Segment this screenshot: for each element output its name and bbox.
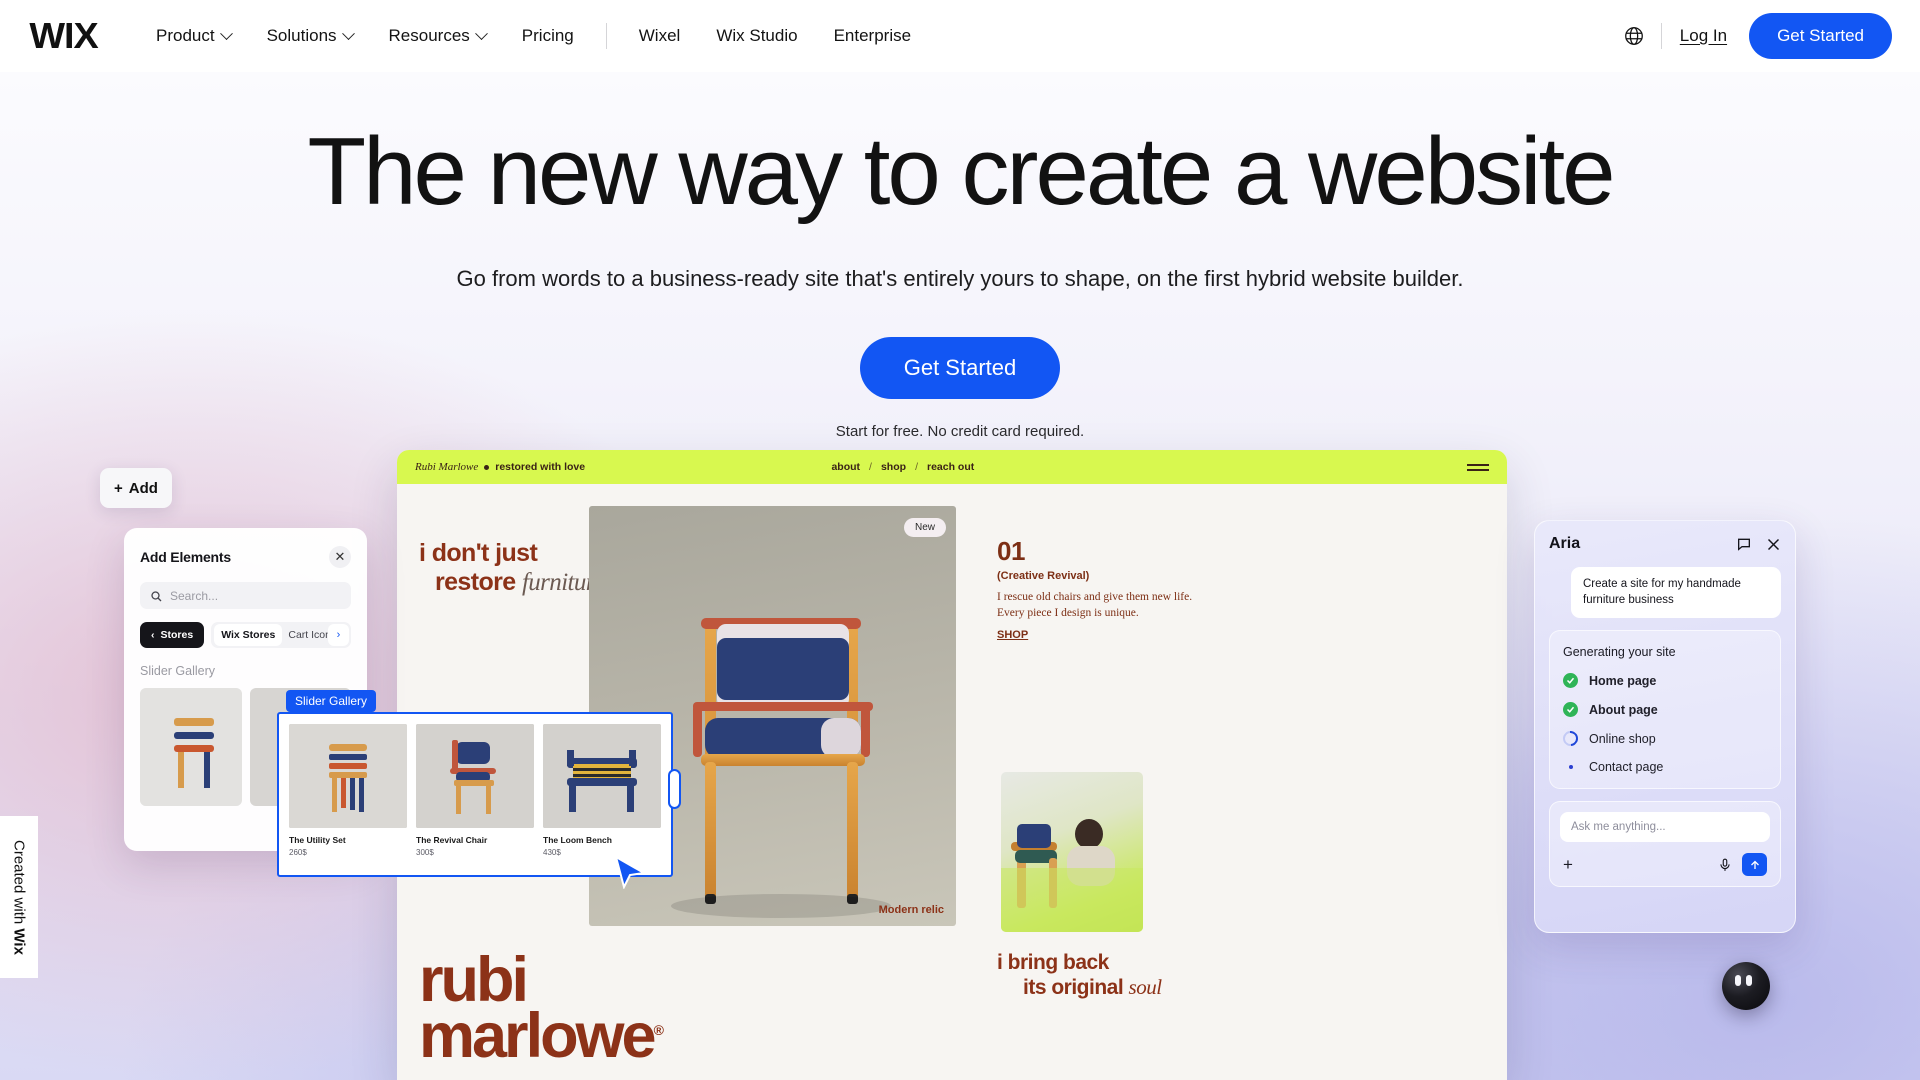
- created-with-wix-badge[interactable]: Created with Wix: [0, 816, 38, 978]
- preview-brand[interactable]: Rubi Marlowe restored with love: [415, 461, 585, 473]
- aria-assistant-panel: Aria Create a site for my handmade furni…: [1534, 520, 1796, 933]
- chevron-down-icon: [220, 27, 233, 40]
- add-button-label: Add: [129, 480, 158, 497]
- get-started-button-hero[interactable]: Get Started: [860, 337, 1061, 399]
- nav-divider: [606, 23, 607, 49]
- created-with-wix-label: Created with Wix: [11, 840, 28, 955]
- preview-headline: i don't just restore furniture: [419, 539, 605, 598]
- add-elements-section-title: Slider Gallery: [140, 664, 351, 678]
- slider-gallery-selection[interactable]: The Utility Set 260$ The Revival Chair 3…: [277, 712, 673, 877]
- preview-headline2-italic: soul: [1129, 975, 1162, 999]
- chevron-left-icon: ‹: [151, 629, 155, 641]
- bullet-icon: [1563, 765, 1578, 769]
- aria-step-label: Contact page: [1589, 760, 1663, 774]
- preview-section-paragraph: I rescue old chairs and give them new li…: [997, 590, 1212, 621]
- loom-bench-illustration: [543, 724, 661, 828]
- nav-item-label: Wixel: [639, 26, 681, 46]
- preview-new-badge: New: [904, 518, 946, 537]
- close-icon[interactable]: ✕: [329, 546, 351, 568]
- gallery-item-name: The Utility Set: [289, 835, 407, 845]
- gallery-item-name: The Revival Chair: [416, 835, 534, 845]
- preview-headline-line1: i don't just: [419, 539, 537, 567]
- preview-nav-divider: /: [869, 461, 872, 473]
- nav-item-enterprise[interactable]: Enterprise: [816, 18, 929, 54]
- search-input[interactable]: Search...: [140, 582, 351, 609]
- aria-step-label: About page: [1589, 703, 1658, 717]
- page-title: The new way to create a website: [0, 124, 1920, 220]
- nav-right-group: Log In Get Started: [1623, 13, 1892, 59]
- check-icon: [1563, 673, 1578, 688]
- aria-user-prompt: Create a site for my handmade furniture …: [1571, 567, 1781, 618]
- arrow-up-icon: [1749, 859, 1761, 871]
- top-navigation-bar: WIX Product Solutions Resources Pricing …: [0, 0, 1920, 72]
- hero-note: Start for free. No credit card required.: [0, 423, 1920, 440]
- preview-nav-about[interactable]: about: [831, 461, 860, 473]
- preview-right-column: 01 (Creative Revival) I rescue old chair…: [997, 536, 1212, 643]
- aria-title: Aria: [1549, 535, 1580, 553]
- aria-step-label: Online shop: [1589, 732, 1656, 746]
- preview-site-nav: Rubi Marlowe restored with love about / …: [397, 450, 1507, 484]
- aria-input-placeholder: Ask me anything...: [1571, 821, 1666, 833]
- preview-brand-dot-icon: [484, 465, 489, 470]
- chevron-down-icon: [342, 27, 355, 40]
- orb-highlight-left: [1735, 975, 1741, 986]
- preview-nav-reach-out[interactable]: reach out: [927, 461, 974, 473]
- aria-header-icons: [1736, 536, 1781, 552]
- selection-label: Slider Gallery: [286, 690, 376, 712]
- utility-set-illustration: [289, 724, 407, 828]
- back-chip-label: Stores: [161, 629, 194, 641]
- preview-nav-divider: /: [915, 461, 918, 473]
- aria-step-online-shop: Online shop: [1563, 731, 1767, 746]
- microphone-icon[interactable]: [1718, 858, 1732, 872]
- plus-icon[interactable]: +: [1563, 856, 1573, 873]
- preview-big-brand-name: rubi marlowe®: [419, 953, 664, 1064]
- aria-header: Aria: [1549, 535, 1781, 553]
- gallery-item-image: [416, 724, 534, 828]
- aria-step-home-page: Home page: [1563, 673, 1767, 688]
- nav-item-label: Enterprise: [834, 26, 911, 46]
- element-thumbnail[interactable]: [140, 688, 242, 806]
- gallery-item[interactable]: The Revival Chair 300$: [416, 724, 534, 865]
- preview-registered-mark: ®: [654, 1022, 664, 1038]
- close-icon[interactable]: [1766, 537, 1781, 552]
- nav-item-label: Resources: [389, 26, 470, 46]
- nav-item-label: Wix Studio: [716, 26, 797, 46]
- preview-nav-links: about / shop / reach out: [831, 461, 974, 473]
- chevron-down-icon: [475, 27, 488, 40]
- spinner-icon: [1560, 728, 1581, 749]
- aria-step-about-page: About page: [1563, 702, 1767, 717]
- main-menu: Product Solutions Resources Pricing Wixe…: [138, 18, 929, 54]
- nav-divider: [1661, 23, 1662, 49]
- nav-item-product[interactable]: Product: [138, 18, 249, 54]
- chip-scroller: Wix Stores Cart Icon P ›: [211, 622, 351, 648]
- gallery-item-image: [543, 724, 661, 828]
- preview-headline-line2: restore: [435, 568, 516, 596]
- hero-subheadline: Go from words to a business-ready site t…: [0, 266, 1920, 292]
- mouse-cursor: [614, 855, 648, 889]
- preview-headline2-line1: i bring back: [997, 951, 1109, 974]
- gallery-item-price: 260$: [289, 848, 407, 857]
- orb-highlight-right: [1746, 975, 1752, 986]
- category-chip-row: ‹ Stores Wix Stores Cart Icon P ›: [140, 622, 351, 648]
- search-placeholder: Search...: [170, 589, 218, 603]
- preview-brand-tagline: restored with love: [495, 461, 585, 473]
- preview-nav-shop[interactable]: shop: [881, 461, 906, 473]
- nav-item-solutions[interactable]: Solutions: [249, 18, 371, 54]
- assistant-orb[interactable]: [1722, 962, 1770, 1010]
- send-button[interactable]: [1742, 853, 1767, 876]
- search-icon: [150, 590, 162, 602]
- revival-chair-illustration: [416, 724, 534, 828]
- aria-step-contact-page: Contact page: [1563, 760, 1767, 774]
- gallery-item-price: 300$: [416, 848, 534, 857]
- chat-bubble-icon[interactable]: [1736, 536, 1752, 552]
- preview-section-number: 01: [997, 536, 1212, 567]
- add-button[interactable]: + Add: [100, 468, 172, 508]
- preview-headline-2: i bring back its original soul: [997, 950, 1162, 1000]
- nav-item-label: Solutions: [267, 26, 337, 46]
- nav-item-resources[interactable]: Resources: [371, 18, 504, 54]
- aria-generating-title: Generating your site: [1563, 645, 1767, 659]
- nav-item-wixel[interactable]: Wixel: [621, 18, 699, 54]
- gallery-item-image: [289, 724, 407, 828]
- login-link[interactable]: Log In: [1680, 26, 1727, 46]
- plus-icon: +: [114, 480, 123, 497]
- preview-bigname-line2: marlowe: [419, 1001, 654, 1071]
- chip-wix-stores[interactable]: Wix Stores: [214, 624, 282, 646]
- stool-stack-illustration: [140, 688, 242, 806]
- workshop-illustration: [1001, 772, 1143, 932]
- preview-section-subtitle: (Creative Revival): [997, 570, 1212, 582]
- gallery-item[interactable]: The Utility Set 260$: [289, 724, 407, 865]
- globe-icon[interactable]: [1623, 25, 1645, 47]
- resize-handle[interactable]: [668, 769, 681, 809]
- aria-composer-right: [1718, 853, 1767, 876]
- chevron-right-icon[interactable]: ›: [328, 624, 349, 646]
- preview-brand-name: Rubi Marlowe: [415, 461, 478, 473]
- aria-composer: Ask me anything... +: [1549, 801, 1781, 887]
- add-elements-title: Add Elements: [140, 549, 231, 565]
- get-started-button-header[interactable]: Get Started: [1749, 13, 1892, 59]
- back-to-stores-chip[interactable]: ‹ Stores: [140, 622, 204, 648]
- hamburger-icon[interactable]: [1467, 461, 1489, 474]
- aria-composer-tools: +: [1560, 853, 1770, 876]
- wix-logo[interactable]: WIX: [29, 15, 97, 57]
- preview-secondary-image: [1001, 772, 1143, 932]
- nav-item-label: Product: [156, 26, 215, 46]
- aria-input[interactable]: Ask me anything...: [1560, 812, 1770, 842]
- preview-headline2-line2: its original: [1023, 976, 1123, 999]
- gallery-item-name: The Loom Bench: [543, 835, 661, 845]
- aria-generation-card: Generating your site Home page About pag…: [1549, 630, 1781, 789]
- hero-section: The new way to create a website Go from …: [0, 72, 1920, 440]
- check-icon: [1563, 702, 1578, 717]
- aria-step-label: Home page: [1589, 674, 1656, 688]
- preview-modern-relic-label: Modern relic: [879, 904, 944, 916]
- gallery-item[interactable]: The Loom Bench 430$: [543, 724, 661, 865]
- add-elements-header: Add Elements ✕: [140, 546, 351, 568]
- nav-item-label: Pricing: [522, 26, 574, 46]
- nav-item-wix-studio[interactable]: Wix Studio: [698, 18, 815, 54]
- nav-item-pricing[interactable]: Pricing: [504, 18, 592, 54]
- preview-shop-link[interactable]: SHOP: [997, 629, 1028, 641]
